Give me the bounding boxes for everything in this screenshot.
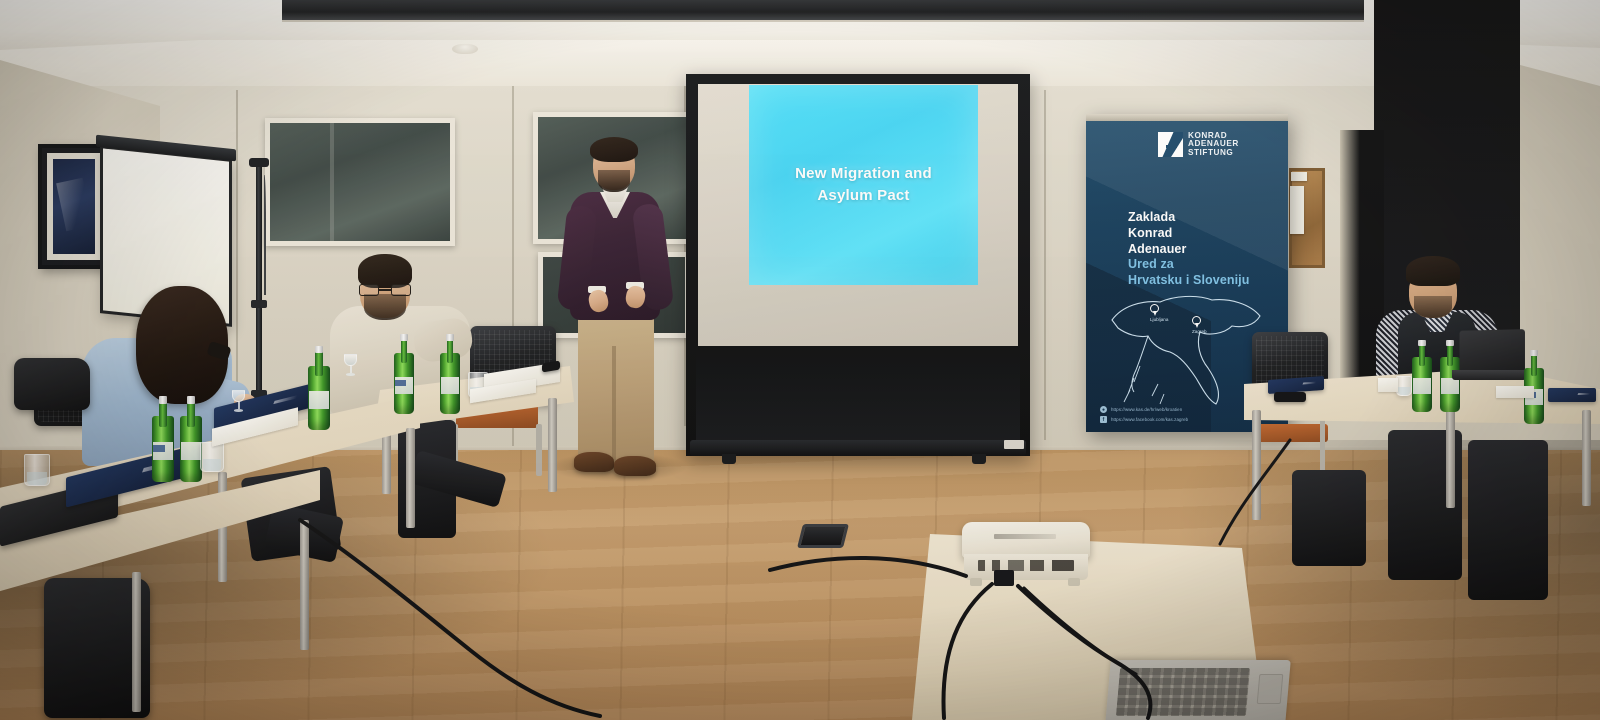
corkboard-notice bbox=[1291, 172, 1307, 181]
bottle-cap bbox=[446, 334, 454, 341]
glass-bowl bbox=[344, 354, 357, 366]
laptop-trackpad[interactable] bbox=[1257, 674, 1284, 704]
glasses-lens-right bbox=[391, 284, 411, 296]
presenter bbox=[556, 140, 672, 480]
bottle-label bbox=[441, 377, 459, 394]
banner-headline-line-1: Zaklada bbox=[1128, 210, 1249, 226]
smartphone[interactable] bbox=[1274, 392, 1306, 402]
bottle-cap bbox=[400, 334, 408, 341]
map-pin-zagreb: Zagreb bbox=[1192, 316, 1207, 334]
bottle-cap bbox=[1418, 340, 1426, 346]
map-pin-ljubljana: Ljubljana bbox=[1150, 304, 1168, 322]
banner-headline-line-4: Ured za bbox=[1128, 257, 1249, 273]
slide-title-line1: New Migration and bbox=[795, 165, 932, 182]
water-bottle[interactable] bbox=[440, 336, 460, 414]
glass-stem bbox=[350, 366, 352, 373]
paper-sheet bbox=[1496, 386, 1534, 398]
glass-bowl bbox=[232, 390, 245, 402]
banner-link-facebook-text: https://www.facebook.com/kas.zagreb bbox=[1111, 417, 1188, 422]
map-pin-label: Zagreb bbox=[1192, 329, 1207, 334]
participant-man-beard bbox=[364, 294, 406, 320]
water-bottle[interactable] bbox=[308, 348, 330, 430]
water-glass[interactable] bbox=[1396, 376, 1412, 396]
presenter-trousers bbox=[578, 312, 654, 464]
bottle-cap bbox=[315, 346, 324, 353]
kas-logo-mark-icon bbox=[1158, 132, 1183, 157]
screen-foot bbox=[972, 454, 986, 464]
banner-headline-line-3: Adenauer bbox=[1128, 242, 1249, 258]
laptop-keyboard-base[interactable] bbox=[1452, 370, 1526, 380]
water-bottle[interactable] bbox=[152, 398, 174, 482]
participant-vest-beard bbox=[1414, 296, 1452, 318]
bottle-cap bbox=[187, 396, 196, 404]
conference-folder[interactable] bbox=[1548, 388, 1596, 402]
slide-title-line2: Asylum Pact bbox=[817, 187, 909, 204]
backpack bbox=[14, 358, 90, 410]
bottle-label bbox=[309, 391, 329, 409]
slide-title: New Migration and Asylum Pact bbox=[781, 163, 946, 207]
paper-cup bbox=[1378, 378, 1398, 392]
table-leg bbox=[548, 398, 557, 492]
banner-links: ● https://www.kas.de/hr/web/kroatien f h… bbox=[1100, 406, 1188, 426]
water-bottle[interactable] bbox=[180, 398, 202, 482]
bottle-label bbox=[181, 442, 201, 460]
banner-link-website: ● https://www.kas.de/hr/web/kroatien bbox=[1100, 406, 1188, 413]
screen-lower-panel bbox=[696, 346, 1020, 444]
projected-slide: New Migration and Asylum Pact bbox=[749, 85, 978, 285]
map-pin-label: Ljubljana bbox=[1150, 317, 1168, 322]
participant-man-hair bbox=[358, 254, 412, 288]
map-pin-icon bbox=[1150, 304, 1159, 313]
corkboard-notice bbox=[1290, 186, 1304, 234]
kas-logo-wordmark: KONRAD ADENAUER STIFTUNG bbox=[1188, 132, 1239, 157]
drinking-glass[interactable] bbox=[344, 354, 357, 376]
table-leg bbox=[132, 572, 141, 712]
bottle-label bbox=[1413, 378, 1431, 393]
globe-icon: ● bbox=[1100, 406, 1107, 413]
presenter-hair bbox=[590, 137, 638, 162]
wall-seam bbox=[1044, 90, 1046, 440]
banner-headline: Zaklada Konrad Adenauer Ured za Hrvatsku… bbox=[1128, 210, 1249, 289]
banner-top-rail bbox=[1086, 114, 1288, 121]
presenter-shoe-right bbox=[614, 456, 656, 476]
presenter-shoe-left bbox=[574, 452, 614, 472]
presenter-trouser-seam bbox=[612, 346, 616, 464]
kas-logo-line3: STIFTUNG bbox=[1188, 149, 1239, 157]
laptop-screen bbox=[1460, 329, 1525, 373]
glasses-bridge bbox=[379, 289, 391, 291]
projector-power-cable bbox=[900, 570, 1240, 720]
banner-headline-line-2: Konrad bbox=[1128, 226, 1249, 242]
participant-vest-hair bbox=[1406, 256, 1460, 286]
interior-window bbox=[265, 118, 455, 246]
glass-foot bbox=[346, 373, 355, 376]
bottle-cap bbox=[1530, 350, 1538, 356]
equipment-stand-head bbox=[249, 158, 269, 167]
facebook-icon: f bbox=[1100, 416, 1107, 423]
ventilation-strip-icon bbox=[282, 0, 1364, 22]
picture-artwork bbox=[53, 159, 95, 254]
drinking-glass[interactable] bbox=[232, 390, 245, 412]
participant-vest-legs bbox=[1468, 440, 1548, 600]
screen-brand-label bbox=[1004, 440, 1024, 449]
table-leg bbox=[1582, 410, 1591, 506]
glass-stem bbox=[238, 402, 240, 409]
bottle-label-accent bbox=[395, 380, 405, 386]
banner-link-website-text: https://www.kas.de/hr/web/kroatien bbox=[1111, 407, 1182, 412]
chair-leg bbox=[536, 424, 542, 476]
water-glass[interactable] bbox=[24, 454, 50, 486]
glasses-icon bbox=[359, 284, 411, 296]
presenter-beard bbox=[598, 170, 630, 192]
banner-link-facebook: f https://www.facebook.com/kas.zagreb bbox=[1100, 416, 1188, 423]
bottle-label-accent bbox=[153, 445, 164, 452]
under-table-cable bbox=[1180, 440, 1300, 570]
map-pin-icon bbox=[1192, 316, 1201, 325]
conference-room-photo: New Migration and Asylum Pact KONRAD ADE… bbox=[0, 0, 1600, 720]
screen-foot bbox=[722, 454, 736, 464]
kas-logo: KONRAD ADENAUER STIFTUNG bbox=[1158, 132, 1239, 157]
stand-cable bbox=[262, 175, 266, 295]
table-leg bbox=[406, 428, 415, 528]
table-leg bbox=[1446, 408, 1455, 508]
water-bottle[interactable] bbox=[1412, 342, 1432, 412]
smoke-detector-icon bbox=[452, 44, 478, 54]
glasses-lens-left bbox=[359, 284, 379, 296]
bottle-cap bbox=[159, 396, 168, 404]
seated-legs bbox=[1292, 470, 1366, 566]
glass-foot bbox=[234, 409, 243, 412]
laptop-open[interactable] bbox=[1452, 330, 1524, 382]
water-bottle[interactable] bbox=[394, 336, 414, 414]
